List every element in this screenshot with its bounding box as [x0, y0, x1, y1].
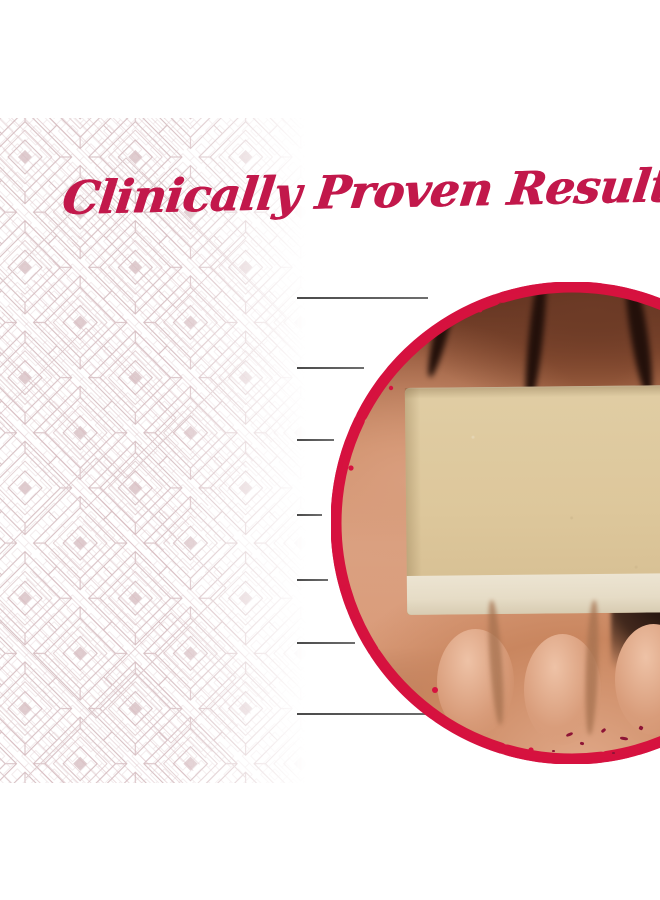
- benefits-list: INCREASES HAIR DENSITY PREVENTS DAMAGE I…: [0, 0, 300, 900]
- leader-line-5: [297, 579, 328, 581]
- paint-fleck: [612, 752, 615, 754]
- bar-texture: [405, 384, 660, 614]
- hand-holding-shampoo-bar-image: [331, 282, 660, 764]
- paint-fleck: [552, 750, 555, 752]
- shampoo-bar: [405, 384, 660, 614]
- paint-fleck: [580, 742, 585, 746]
- leader-line-4: [297, 514, 322, 516]
- bar-edge: [405, 387, 422, 614]
- product-photo: [331, 282, 660, 764]
- leader-line-3: [297, 439, 334, 441]
- promo-graphic: Clinically Proven Results INCREASES HAIR…: [0, 0, 660, 900]
